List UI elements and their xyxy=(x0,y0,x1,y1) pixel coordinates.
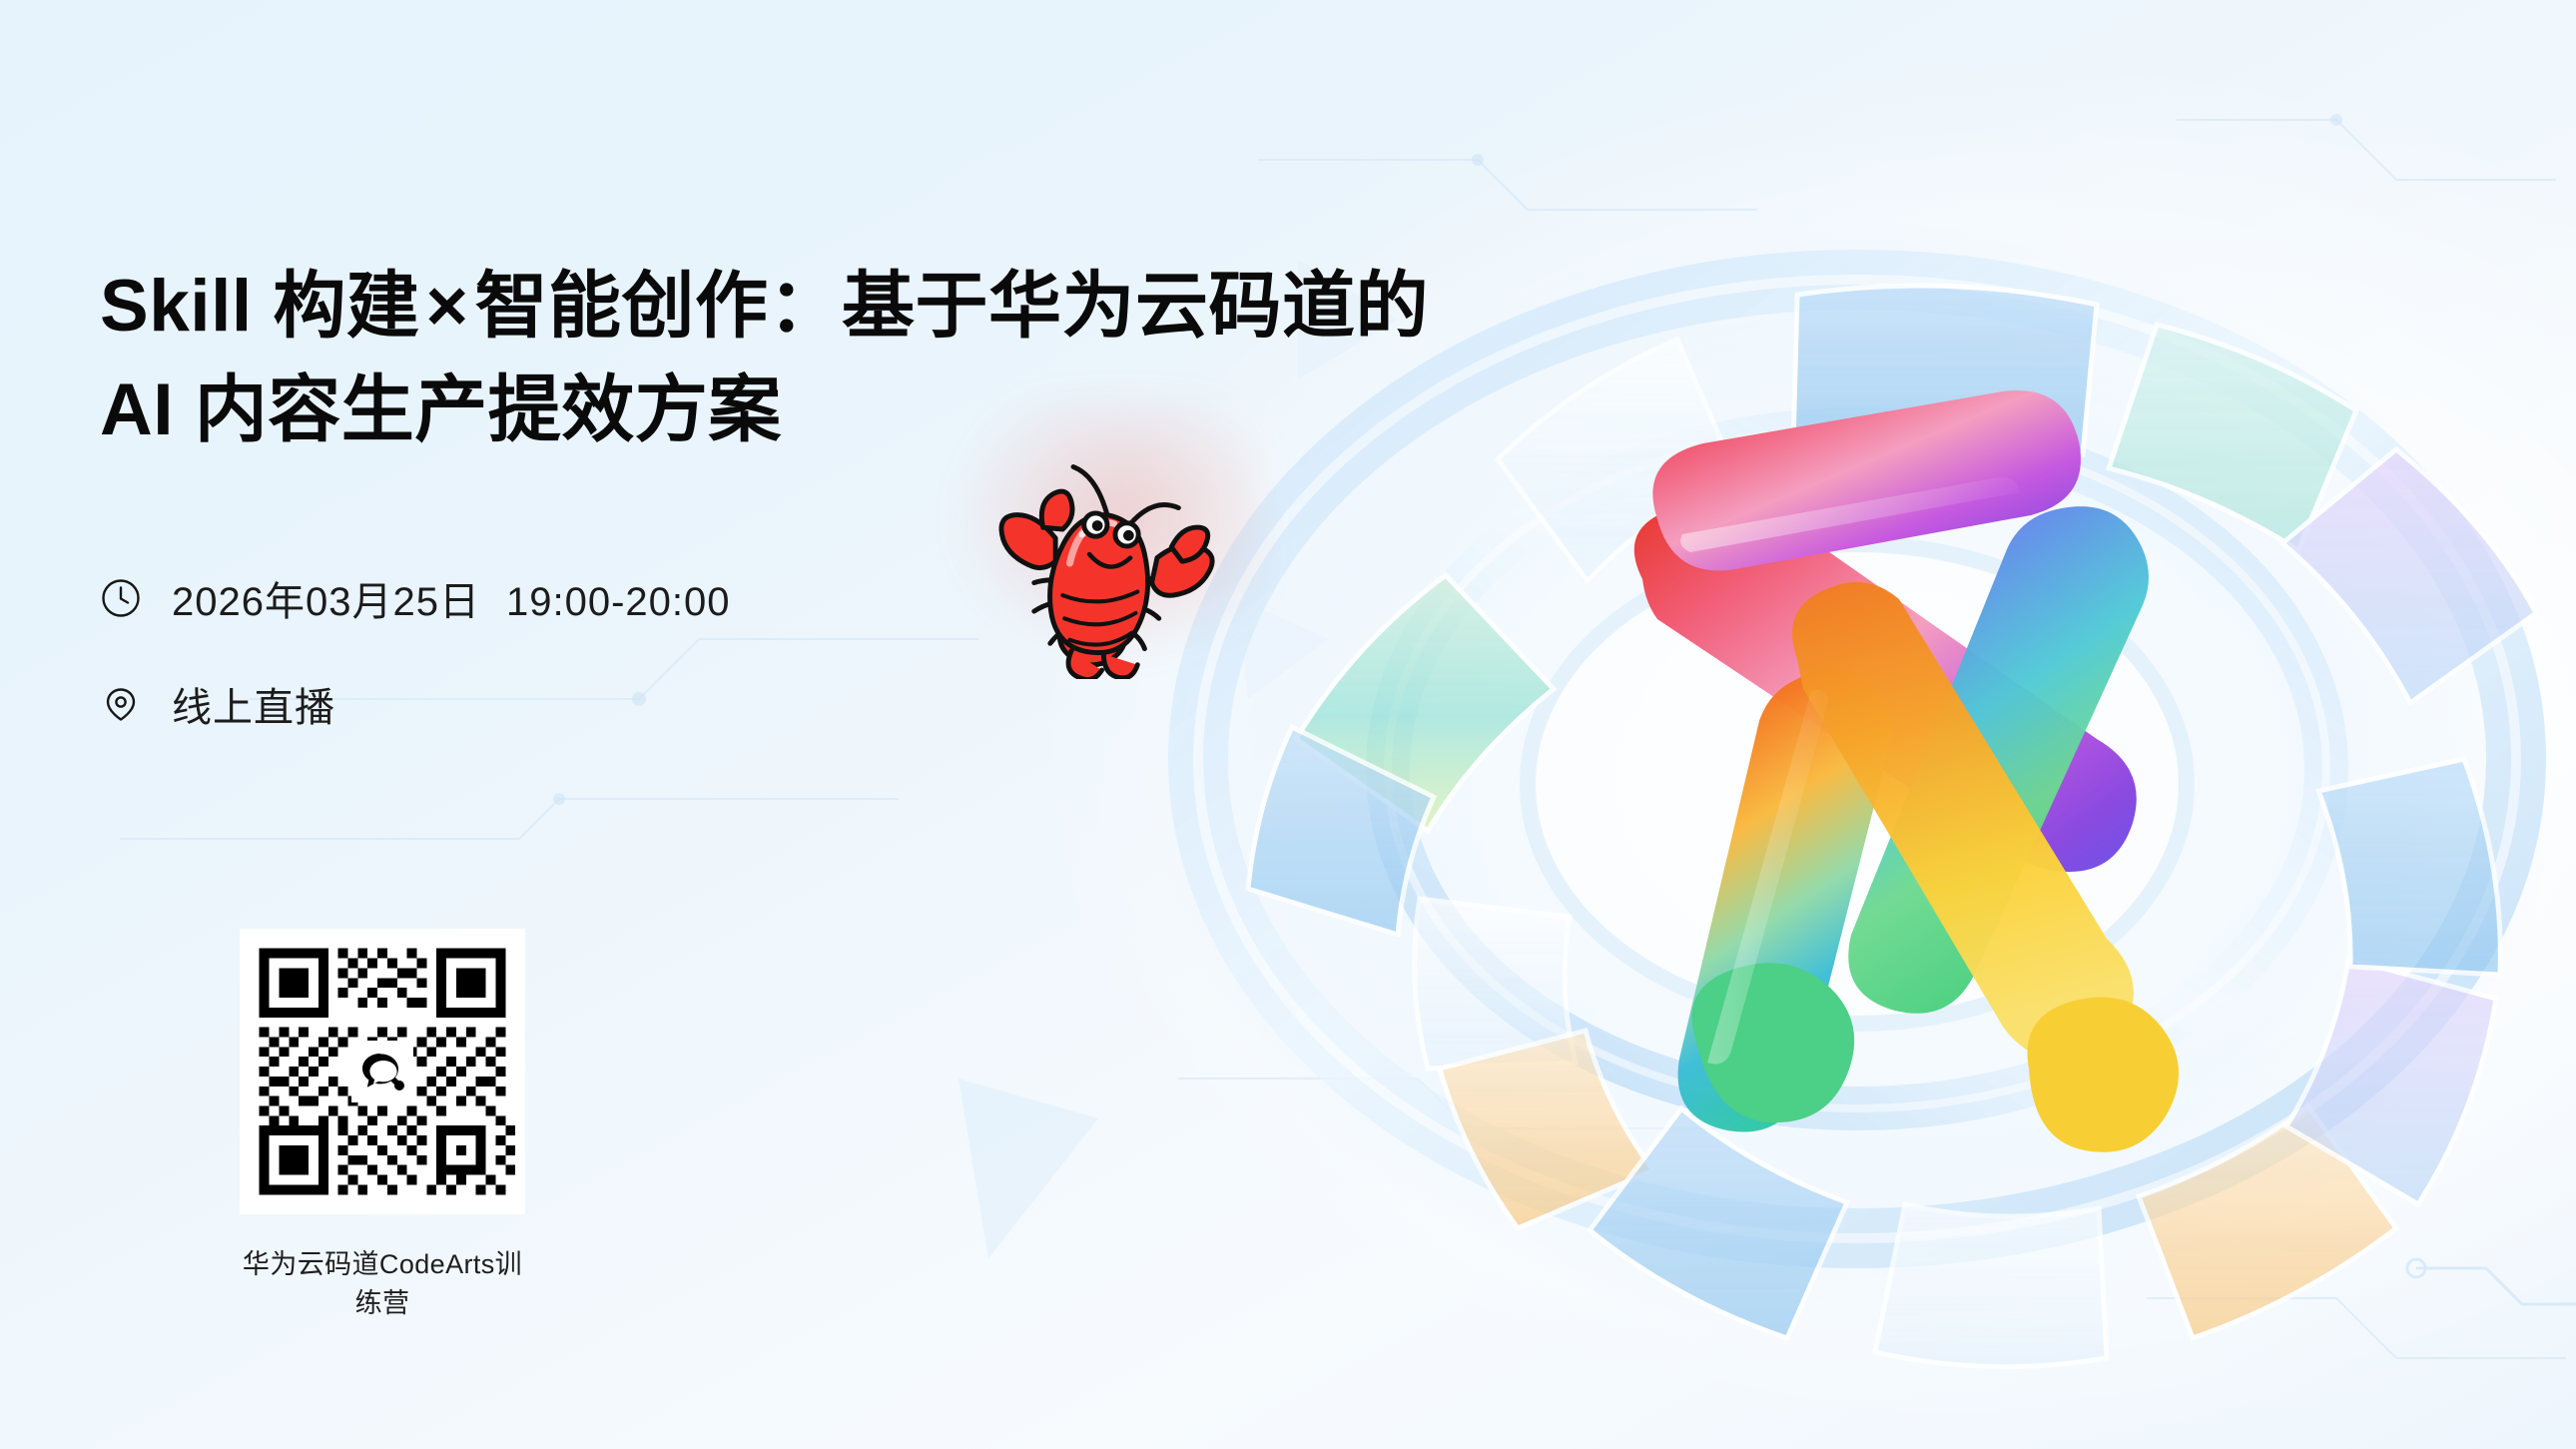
event-location: 线上直播 xyxy=(172,675,335,733)
hero-3d-artwork xyxy=(1098,40,2576,1449)
qr-block: 华为云码道CodeArts训练营 xyxy=(240,929,525,1320)
title-line-1-part-b: 智能创作：基于华为云码道的 xyxy=(475,266,1430,347)
event-time: 19:00-20:00 xyxy=(506,580,731,624)
title-line-1-part-a: Skill 构建 xyxy=(100,266,419,347)
title-x-mark: × xyxy=(419,266,474,347)
detail-row-location: 线上直播 xyxy=(100,675,1248,733)
qr-caption: 华为云码道CodeArts训练营 xyxy=(240,1242,525,1320)
title-line-1: Skill 构建×智能创作：基于华为云码道的 xyxy=(100,255,1248,359)
chat-bubble-icon xyxy=(351,1041,413,1102)
location-pin-icon xyxy=(100,683,142,725)
detail-datetime-text: 2026年03月25日19:00-20:00 xyxy=(172,569,730,627)
clock-icon xyxy=(100,577,142,619)
event-date: 2026年03月25日 xyxy=(172,580,480,624)
lobster-mascot xyxy=(973,429,1223,679)
poster-canvas: Skill 构建×智能创作：基于华为云码道的 AI 内容生产提效方案 2026年… xyxy=(0,0,2576,1449)
qr-code[interactable] xyxy=(240,929,525,1214)
